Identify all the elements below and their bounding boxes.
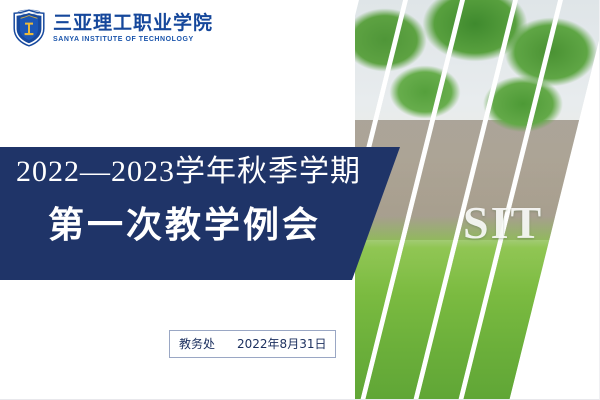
title-band: 2022—2023学年秋季学期 第一次教学例会 <box>0 147 400 280</box>
campus-photo-mosaic: SIT <box>355 0 600 400</box>
institution-logo: 三亚理工职业学院 SANYA INSTITUTE OF TECHNOLOGY <box>12 9 213 47</box>
presentation-slide: SIT 2022—2023学年秋季学期 第一次教学例会 三亚理工职业学院 SAN… <box>0 0 600 400</box>
credit-box: 教务处 2022年8月31日 <box>169 330 336 358</box>
credit-department: 教务处 <box>179 335 215 352</box>
logo-text-block: 三亚理工职业学院 SANYA INSTITUTE OF TECHNOLOGY <box>53 14 213 43</box>
institution-name-cn: 三亚理工职业学院 <box>53 14 213 33</box>
institution-name-en: SANYA INSTITUTE OF TECHNOLOGY <box>53 36 213 43</box>
title-line-academic-term: 2022—2023学年秋季学期 <box>16 157 361 187</box>
title-line-meeting-name: 第一次教学例会 <box>48 207 321 243</box>
shield-crest-icon <box>12 9 46 47</box>
credit-date: 2022年8月31日 <box>237 335 326 352</box>
